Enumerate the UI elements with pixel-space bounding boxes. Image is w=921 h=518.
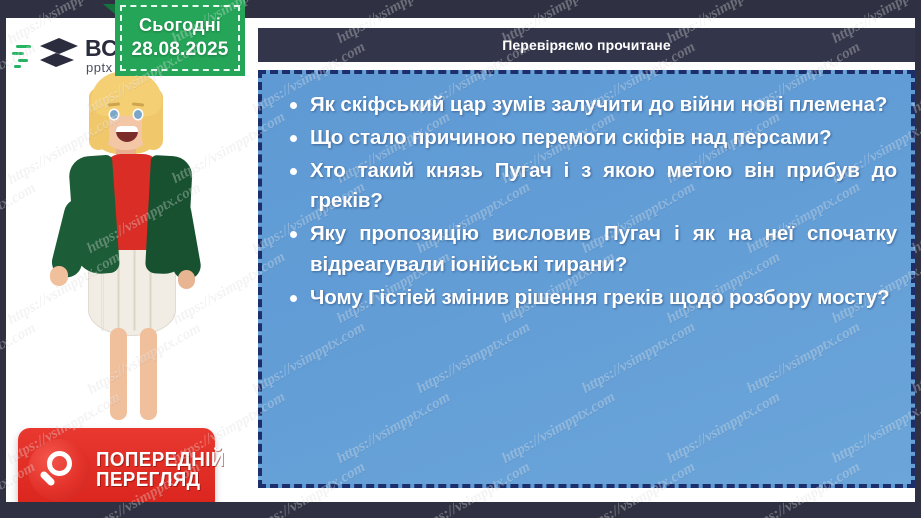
preview-button-label: ПОПЕРЕДНІЙ ПЕРЕГЛЯД bbox=[96, 450, 233, 491]
magnifier-icon bbox=[28, 439, 90, 501]
magnifier-lens bbox=[47, 451, 72, 476]
character-eye-right bbox=[134, 110, 142, 119]
list-item: Чому Гістіей змінив рішення греків щодо … bbox=[280, 283, 897, 314]
today-date-badge: Сьогодні 28.08.2025 bbox=[115, 0, 245, 76]
questions-panel: Як скіфський цар зумів залучити до війни… bbox=[258, 70, 915, 488]
character-eye-left bbox=[110, 110, 118, 119]
character-leg-left bbox=[110, 328, 127, 420]
list-item: Хто такий князь Пугач і з якою метою він… bbox=[280, 156, 897, 218]
character-leg-right bbox=[140, 328, 157, 420]
list-item: Яку пропозицію висловив Пугач і як на не… bbox=[280, 219, 897, 281]
list-item: Що стало причиною перемоги скіфів над пе… bbox=[280, 123, 897, 154]
list-item: Як скіфський цар зумів залучити до війни… bbox=[280, 90, 897, 121]
slide-canvas: BCIM pptx bbox=[6, 18, 915, 502]
section-title-bar: Перевіряємо прочитане bbox=[258, 28, 915, 62]
presentation-frame: BCIM pptx bbox=[0, 0, 921, 518]
section-title: Перевіряємо прочитане bbox=[502, 37, 671, 53]
date-badge-date: 28.08.2025 bbox=[131, 39, 228, 61]
preview-button[interactable]: ПОПЕРЕДНІЙ ПЕРЕГЛЯД bbox=[18, 428, 215, 502]
character-hand-left bbox=[50, 266, 68, 286]
character-hair-front bbox=[91, 72, 162, 116]
date-badge-inner: Сьогодні 28.08.2025 bbox=[120, 5, 240, 71]
character-hand-right bbox=[178, 270, 195, 289]
character-teeth bbox=[116, 126, 138, 132]
character-illustration bbox=[6, 66, 250, 426]
questions-list: Як скіфський цар зумів залучити до війни… bbox=[280, 90, 897, 313]
date-badge-label: Сьогодні bbox=[139, 15, 221, 36]
preview-label-line2: ПЕРЕГЛЯД bbox=[96, 470, 225, 490]
preview-label-line1: ПОПЕРЕДНІЙ bbox=[96, 450, 225, 470]
